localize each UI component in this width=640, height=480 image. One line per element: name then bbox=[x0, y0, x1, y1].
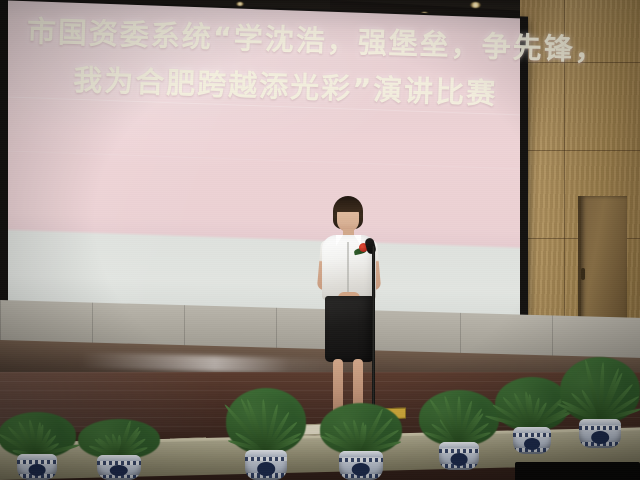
pot-rim bbox=[513, 427, 551, 433]
speaker-blouse-placket bbox=[347, 242, 349, 298]
wall-seam bbox=[520, 150, 640, 151]
potted-plant-4 bbox=[318, 404, 404, 480]
pot-rim bbox=[97, 455, 141, 461]
pot-pattern-band bbox=[339, 458, 383, 462]
spotlight-2-icon bbox=[236, 2, 244, 6]
speaker-hair-fringe bbox=[334, 200, 362, 212]
pot-medallion bbox=[29, 464, 46, 476]
auditorium-photo: 市国资委系统“学沈浩，强堡垒，争先锋， 我为合肥跨越添光彩”演讲比赛 bbox=[0, 0, 640, 480]
porcelain-pot bbox=[513, 427, 551, 454]
pot-pattern-band bbox=[245, 457, 287, 461]
pot-medallion bbox=[591, 431, 609, 444]
porcelain-pot bbox=[17, 454, 57, 480]
pot-pattern-band bbox=[97, 461, 141, 465]
slide-title: 市国资委系统“学沈浩，强堡垒，争先锋， 我为合肥跨越添光彩”演讲比赛 bbox=[15, 8, 512, 118]
potted-plant-2 bbox=[78, 424, 160, 480]
microphone-pole[interactable] bbox=[372, 246, 375, 421]
door-knob-icon[interactable] bbox=[581, 268, 585, 280]
pot-rim bbox=[579, 419, 621, 425]
speaker-collar-left bbox=[336, 235, 343, 246]
pot-rim bbox=[245, 450, 287, 457]
porcelain-pot bbox=[245, 450, 287, 480]
pot-medallion bbox=[524, 438, 540, 450]
pot-rim bbox=[17, 454, 57, 460]
potted-plant-3 bbox=[224, 388, 308, 480]
potted-plant-7 bbox=[560, 358, 640, 448]
pot-rim bbox=[339, 451, 383, 457]
spotlight-4-icon bbox=[470, 2, 481, 8]
pot-pattern-band bbox=[17, 460, 57, 464]
pot-medallion bbox=[451, 453, 468, 466]
dark-foreground-object bbox=[515, 462, 640, 480]
speaker-skirt bbox=[325, 296, 374, 362]
porcelain-pot bbox=[579, 419, 621, 448]
pot-medallion bbox=[257, 462, 275, 476]
porcelain-pot bbox=[97, 455, 141, 480]
pot-pattern-band bbox=[579, 426, 621, 430]
pot-pattern-band bbox=[513, 433, 551, 437]
potted-plant-1 bbox=[0, 418, 74, 480]
screen-fold-line bbox=[8, 150, 520, 169]
porcelain-pot bbox=[339, 451, 383, 480]
pot-pattern-band bbox=[439, 449, 479, 453]
potted-plant-5 bbox=[418, 392, 500, 470]
pot-rim bbox=[439, 442, 479, 448]
porcelain-pot bbox=[439, 442, 479, 470]
potted-plant-6 bbox=[494, 378, 570, 454]
speaker-figure bbox=[306, 196, 392, 436]
